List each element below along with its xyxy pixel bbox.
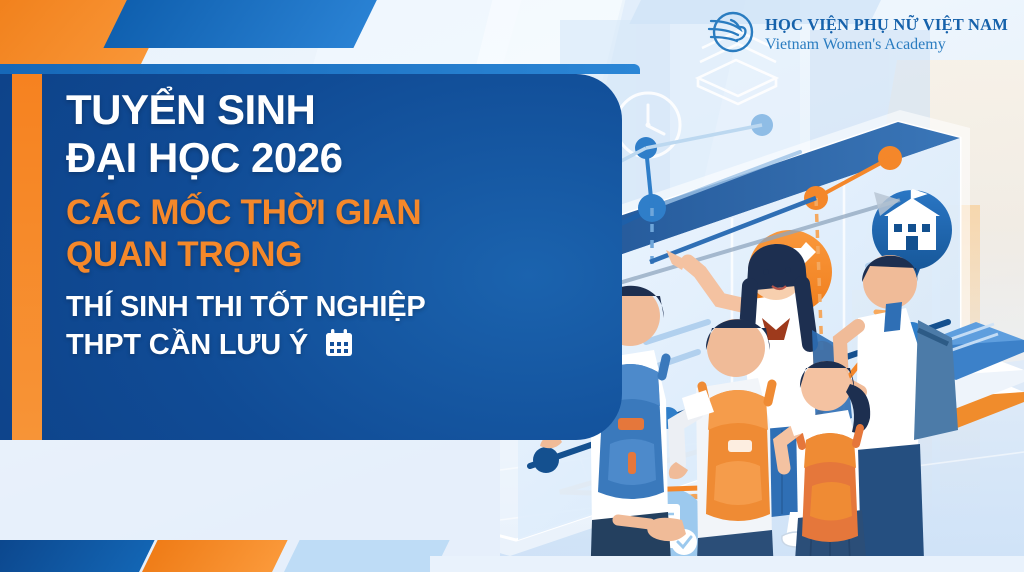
caption-line-2-wrap: THPT CẦN LƯU Ý [66, 326, 586, 368]
headline-copy: TUYỂN SINH ĐẠI HỌC 2026 CÁC MỐC THỜI GIA… [66, 86, 586, 368]
subhead-line-1: CÁC MỐC THỜI GIAN [66, 192, 586, 234]
dove-bird-icon [707, 10, 755, 59]
caption-line-1: THÍ SINH THI TỐT NGHIỆP [66, 288, 586, 326]
corner-accent-bottom-navy [0, 540, 155, 572]
banner-canvas: TUYỂN SINH ĐẠI HỌC 2026 CÁC MỐC THỜI GIA… [0, 0, 1024, 572]
brand-text: HỌC VIỆN PHỤ NỮ VIỆT NAM Vietnam Women's… [765, 15, 1008, 54]
subhead-line-2: QUAN TRỌNG [66, 234, 586, 276]
corner-accent-bottom-lightblue [270, 540, 449, 572]
bottom-strip [430, 556, 1024, 572]
brand-name-en: Vietnam Women's Academy [765, 36, 1008, 54]
orange-accent-bar [12, 74, 42, 440]
brand-name-vi: HỌC VIỆN PHỤ NỮ VIỆT NAM [765, 15, 1008, 35]
headline-line-1: TUYỂN SINH [66, 86, 586, 134]
corner-accent-top-left-blue [103, 0, 386, 48]
brand-logo[interactable]: HỌC VIỆN PHỤ NỮ VIỆT NAM Vietnam Women's… [707, 10, 1008, 59]
timeline-dot [533, 447, 559, 473]
caption-line-2: THPT CẦN LƯU Ý [66, 329, 308, 361]
headline-line-2: ĐẠI HỌC 2026 [66, 134, 586, 182]
panel-top-strip [0, 64, 640, 74]
calendar-icon [324, 328, 354, 368]
